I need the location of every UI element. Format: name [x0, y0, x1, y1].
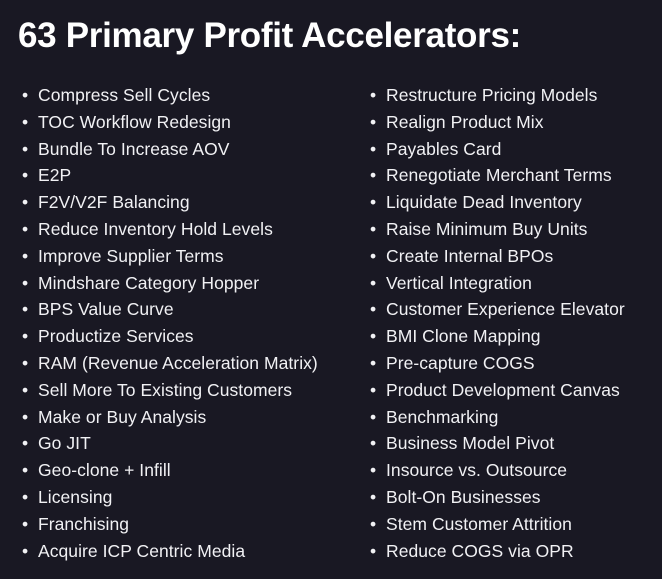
list-item: •RAM (Revenue Acceleration Matrix): [20, 350, 360, 377]
list-item: •Geo-clone + Infill: [20, 457, 360, 484]
bullet-dot-icon: •: [22, 430, 36, 457]
bullet-dot-icon: •: [370, 136, 384, 163]
list-item: •TOC Workflow Redesign: [20, 109, 360, 136]
list-item-label: Acquire ICP Centric Media: [38, 538, 245, 565]
bullet-dot-icon: •: [22, 377, 36, 404]
list-item: •Bolt-On Businesses: [368, 484, 662, 511]
bullet-dot-icon: •: [370, 430, 384, 457]
bullet-dot-icon: •: [370, 511, 384, 538]
list-item-label: Productize Services: [38, 323, 194, 350]
list-item: •Vertical Integration: [368, 270, 662, 297]
list-item-label: Bundle To Increase AOV: [38, 136, 229, 163]
list-item: •Productize Services: [20, 323, 360, 350]
list-item-label: Payables Card: [386, 136, 501, 163]
bullet-dot-icon: •: [22, 457, 36, 484]
slide-root: 63 Primary Profit Accelerators: •Compres…: [0, 0, 662, 579]
bullet-dot-icon: •: [22, 162, 36, 189]
list-item-label: Customer Experience Elevator: [386, 296, 625, 323]
bullet-dot-icon: •: [22, 82, 36, 109]
list-item: •Renegotiate Merchant Terms: [368, 162, 662, 189]
list-item: •Reduce COGS via OPR: [368, 538, 662, 565]
list-item-label: Liquidate Dead Inventory: [386, 189, 582, 216]
list-item: •Acquire ICP Centric Media: [20, 538, 360, 565]
list-item-label: RAM (Revenue Acceleration Matrix): [38, 350, 318, 377]
list-item: •Licensing: [20, 484, 360, 511]
list-item: •Restructure Pricing Models: [368, 82, 662, 109]
list-item-label: Bolt-On Businesses: [386, 484, 541, 511]
bullet-dot-icon: •: [370, 377, 384, 404]
list-item-label: Stem Customer Attrition: [386, 511, 572, 538]
bullet-dot-icon: •: [22, 296, 36, 323]
bullet-dot-icon: •: [370, 109, 384, 136]
list-item: •Realign Product Mix: [368, 109, 662, 136]
list-item-label: Reduce Inventory Hold Levels: [38, 216, 273, 243]
list-item-label: Business Model Pivot: [386, 430, 554, 457]
list-item-label: Sell More To Existing Customers: [38, 377, 292, 404]
list-item: •Make or Buy Analysis: [20, 404, 360, 431]
list-item-label: Make or Buy Analysis: [38, 404, 206, 431]
list-item: •Payables Card: [368, 136, 662, 163]
bullet-dot-icon: •: [370, 538, 384, 565]
list-item: •Franchising: [20, 511, 360, 538]
list-item-label: Mindshare Category Hopper: [38, 270, 259, 297]
bullet-dot-icon: •: [22, 109, 36, 136]
list-item: •Benchmarking: [368, 404, 662, 431]
bullet-dot-icon: •: [370, 350, 384, 377]
bullet-dot-icon: •: [22, 216, 36, 243]
list-item: •Raise Minimum Buy Units: [368, 216, 662, 243]
list-item-label: Renegotiate Merchant Terms: [386, 162, 612, 189]
bullet-dot-icon: •: [22, 136, 36, 163]
list-item-label: Compress Sell Cycles: [38, 82, 210, 109]
list-item: •Mindshare Category Hopper: [20, 270, 360, 297]
list-item-label: Insource vs. Outsource: [386, 457, 567, 484]
bullet-dot-icon: •: [22, 243, 36, 270]
list-item-label: Vertical Integration: [386, 270, 532, 297]
bullet-dot-icon: •: [370, 162, 384, 189]
list-item-label: BPS Value Curve: [38, 296, 174, 323]
list-item: •E2P: [20, 162, 360, 189]
bullet-dot-icon: •: [22, 484, 36, 511]
list-item: •Go JIT: [20, 430, 360, 457]
list-item: •BMI Clone Mapping: [368, 323, 662, 350]
bullet-dot-icon: •: [22, 323, 36, 350]
bullet-dot-icon: •: [370, 457, 384, 484]
bullet-dot-icon: •: [370, 82, 384, 109]
list-item: •Liquidate Dead Inventory: [368, 189, 662, 216]
list-item: •Create Internal BPOs: [368, 243, 662, 270]
list-item-label: Improve Supplier Terms: [38, 243, 224, 270]
list-item-label: Franchising: [38, 511, 129, 538]
list-item-label: Geo-clone + Infill: [38, 457, 171, 484]
list-item: •Bundle To Increase AOV: [20, 136, 360, 163]
list-item: •BPS Value Curve: [20, 296, 360, 323]
bullet-dot-icon: •: [370, 189, 384, 216]
bullet-dot-icon: •: [22, 511, 36, 538]
list-item-label: Go JIT: [38, 430, 91, 457]
bullet-dot-icon: •: [370, 270, 384, 297]
list-item: •Compress Sell Cycles: [20, 82, 360, 109]
list-item: •Improve Supplier Terms: [20, 243, 360, 270]
list-item: •Insource vs. Outsource: [368, 457, 662, 484]
bullet-dot-icon: •: [370, 296, 384, 323]
list-item: •Business Model Pivot: [368, 430, 662, 457]
list-item-label: Reduce COGS via OPR: [386, 538, 574, 565]
list-item-label: Restructure Pricing Models: [386, 82, 597, 109]
bullet-dot-icon: •: [370, 484, 384, 511]
bullet-column-left: •Compress Sell Cycles•TOC Workflow Redes…: [0, 82, 360, 564]
bullet-dot-icon: •: [370, 216, 384, 243]
list-item-label: Realign Product Mix: [386, 109, 544, 136]
bullet-columns: •Compress Sell Cycles•TOC Workflow Redes…: [0, 82, 662, 572]
bullet-dot-icon: •: [22, 350, 36, 377]
bullet-dot-icon: •: [370, 404, 384, 431]
list-item-label: Benchmarking: [386, 404, 498, 431]
list-item-label: Create Internal BPOs: [386, 243, 553, 270]
list-item-label: Product Development Canvas: [386, 377, 620, 404]
list-item: •Pre-capture COGS: [368, 350, 662, 377]
bullet-dot-icon: •: [370, 243, 384, 270]
list-item-label: Raise Minimum Buy Units: [386, 216, 587, 243]
list-item-label: Licensing: [38, 484, 112, 511]
list-item: •Stem Customer Attrition: [368, 511, 662, 538]
page-title: 63 Primary Profit Accelerators:: [18, 14, 638, 58]
list-item-label: Pre-capture COGS: [386, 350, 535, 377]
list-item-label: E2P: [38, 162, 71, 189]
list-item: •Customer Experience Elevator: [368, 296, 662, 323]
list-item: •Product Development Canvas: [368, 377, 662, 404]
bullet-dot-icon: •: [370, 323, 384, 350]
list-item: •F2V/V2F Balancing: [20, 189, 360, 216]
bullet-dot-icon: •: [22, 189, 36, 216]
bullet-column-right: •Restructure Pricing Models•Realign Prod…: [360, 82, 662, 564]
list-item-label: F2V/V2F Balancing: [38, 189, 190, 216]
list-item: •Reduce Inventory Hold Levels: [20, 216, 360, 243]
bullet-dot-icon: •: [22, 538, 36, 565]
bullet-dot-icon: •: [22, 404, 36, 431]
bullet-dot-icon: •: [22, 270, 36, 297]
list-item-label: BMI Clone Mapping: [386, 323, 541, 350]
list-item: •Sell More To Existing Customers: [20, 377, 360, 404]
list-item-label: TOC Workflow Redesign: [38, 109, 231, 136]
